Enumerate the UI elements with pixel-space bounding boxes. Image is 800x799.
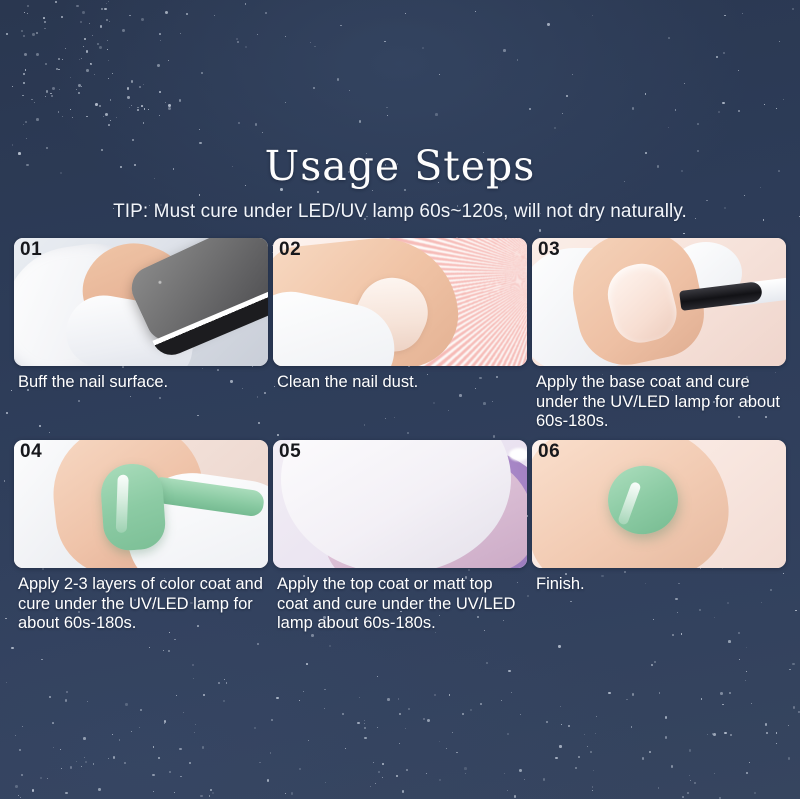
step-image-04: 04: [14, 440, 268, 568]
led-light-icon: [509, 448, 527, 461]
base-coat-scene: [532, 238, 786, 366]
step-number-badge: 06: [538, 441, 560, 463]
step-caption-04: Apply 2-3 layers of color coat and cure …: [14, 568, 268, 634]
step-card-01: 01 Buff the nail surface.: [14, 238, 268, 432]
tip-text: TIP: Must cure under LED/UV lamp 60s~120…: [0, 187, 800, 223]
finished-nail-scene: [532, 440, 786, 568]
steps-row-1: 01 Buff the nail surface. 02 Clean the n…: [14, 238, 786, 432]
step-number-badge: 05: [279, 441, 301, 463]
step-image-03: 03: [532, 238, 786, 366]
page-title: Usage Steps: [0, 0, 800, 187]
step-caption-06: Finish.: [532, 568, 786, 595]
uv-lamp-scene: [273, 440, 527, 568]
step-image-01: 01: [14, 238, 268, 366]
step-number-badge: 01: [20, 239, 42, 261]
step-number-badge: 03: [538, 239, 560, 261]
step-card-03: 03 Apply the base coat and cure under th…: [532, 238, 786, 432]
step-number-badge: 04: [20, 441, 42, 463]
step-caption-03: Apply the base coat and cure under the U…: [532, 366, 786, 432]
header: Usage Steps TIP: Must cure under LED/UV …: [0, 0, 800, 223]
step-caption-05: Apply the top coat or matt top coat and …: [273, 568, 527, 634]
step-image-02: 02: [273, 238, 527, 366]
color-coat-scene: [14, 440, 268, 568]
step-image-06: 06: [532, 440, 786, 568]
step-card-02: 02 Clean the nail dust.: [273, 238, 527, 432]
step-image-05: 05: [273, 440, 527, 568]
step-card-05: 05 Apply the top coat or matt top coat a…: [273, 440, 527, 634]
dust-brush-scene: [273, 238, 527, 366]
step-caption-01: Buff the nail surface.: [14, 366, 268, 393]
green-nail-shape: [99, 462, 167, 552]
step-caption-02: Clean the nail dust.: [273, 366, 527, 393]
usage-steps-infographic: Usage Steps TIP: Must cure under LED/UV …: [0, 0, 800, 799]
steps-row-2: 04 Apply 2-3 layers of color coat and cu…: [14, 440, 786, 634]
step-card-04: 04 Apply 2-3 layers of color coat and cu…: [14, 440, 268, 634]
step-number-badge: 02: [279, 239, 301, 261]
step-card-06: 06 Finish.: [532, 440, 786, 634]
buff-nail-scene: [14, 238, 268, 366]
